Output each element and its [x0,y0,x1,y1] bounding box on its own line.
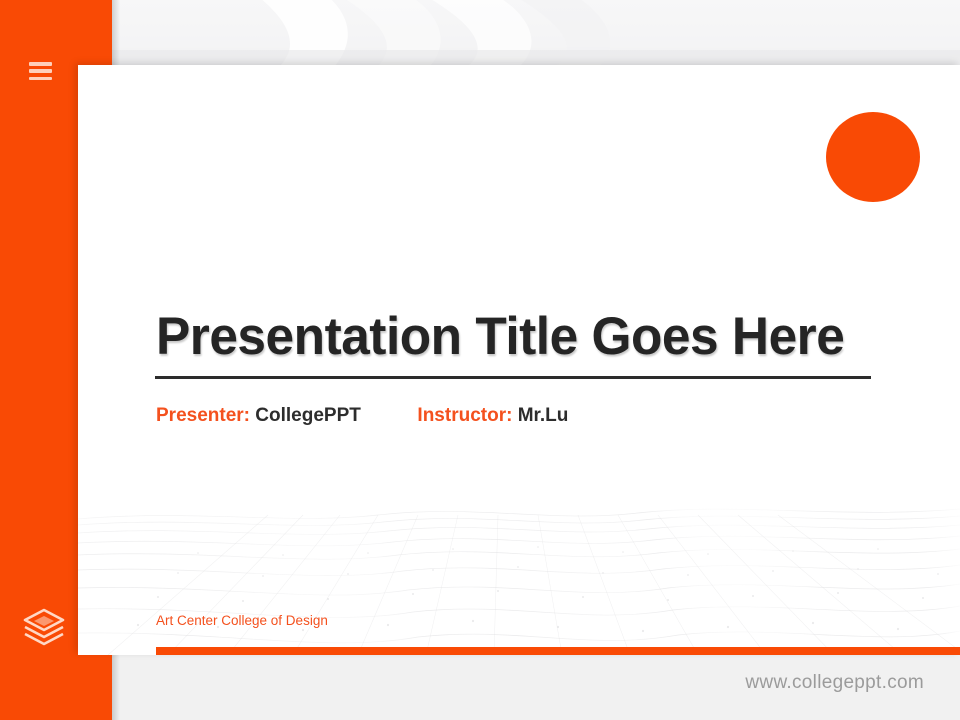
top-background-swooshes [0,0,960,66]
footer-website: www.collegeppt.com [745,672,924,694]
page-title: Presentation Title Goes Here [156,309,851,365]
hamburger-bar-2 [29,69,52,73]
title-underline-rule [155,376,871,379]
presenter-label: Presenter: [156,405,250,426]
credit-line: Art Center College of Design [156,613,328,628]
instructor-value: Mr.Lu [518,405,569,426]
presentation-slide: Presentation Title Goes Here Presenter: … [78,65,960,655]
layers-stack-icon[interactable] [20,603,68,651]
presenter-value: CollegePPT [255,405,361,426]
wireframe-mesh-decoration [78,475,960,655]
orange-circle-decoration [826,112,920,202]
swoosh-shapes [0,0,960,66]
hamburger-bar-1 [29,62,52,66]
hamburger-bar-3 [29,77,52,81]
layers-stack-glyph [20,603,68,651]
byline: Presenter: CollegePPT Instructor: Mr.Lu [156,405,568,427]
slide-bottom-accent-bar [156,647,960,655]
slide-canvas: Presentation Title Goes Here Presenter: … [0,0,960,720]
hamburger-icon[interactable] [29,62,52,80]
instructor-label: Instructor: [417,405,512,426]
wireframe-mesh-svg [78,475,960,655]
